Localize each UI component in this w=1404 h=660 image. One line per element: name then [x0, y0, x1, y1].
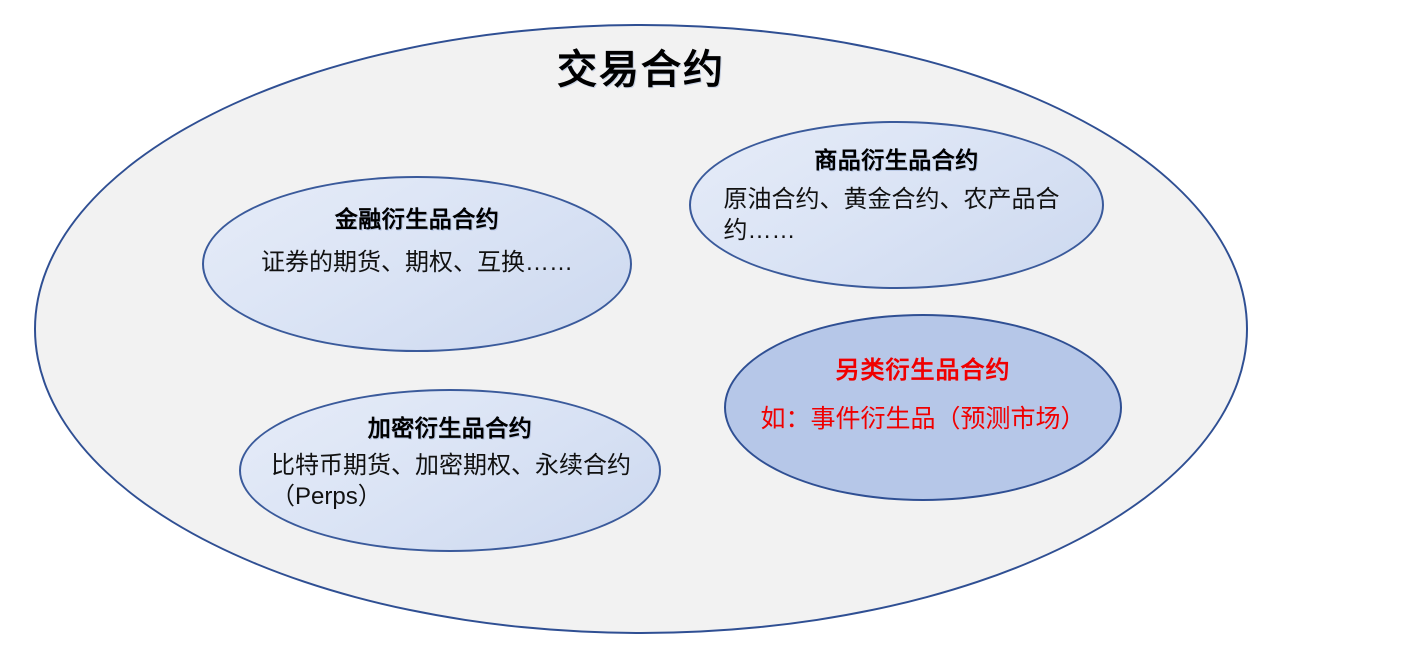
node-alternative-derivatives-title: 另类衍生品合约 — [836, 350, 1011, 385]
node-alternative-derivatives-body: 如：事件衍生品（预测市场） — [728, 403, 1118, 435]
diagram-canvas: 交易合约 金融衍生品合约 证券的期货、期权、互换…… 商品衍生品合约 原油合约、… — [0, 0, 1404, 660]
node-commodity-derivatives[interactable]: 商品衍生品合约 原油合约、黄金合约、农产品合约…… — [689, 121, 1104, 289]
node-crypto-derivatives[interactable]: 加密衍生品合约 比特币期货、加密期权、永续合约（Perps） — [239, 389, 661, 552]
node-financial-derivatives[interactable]: 金融衍生品合约 证券的期货、期权、互换…… — [202, 176, 632, 352]
node-crypto-derivatives-title: 加密衍生品合约 — [368, 409, 533, 443]
node-commodity-derivatives-title: 商品衍生品合约 — [814, 141, 979, 175]
diagram-title: 交易合约 — [36, 48, 1246, 92]
node-crypto-derivatives-body: 比特币期货、加密期权、永续合约（Perps） — [257, 451, 643, 512]
node-commodity-derivatives-body: 原油合约、黄金合约、农产品合约…… — [710, 185, 1084, 246]
node-financial-derivatives-body: 证券的期货、期权、互换…… — [217, 248, 617, 279]
outer-category-ellipse: 交易合约 金融衍生品合约 证券的期货、期权、互换…… 商品衍生品合约 原油合约、… — [34, 24, 1248, 634]
node-financial-derivatives-title: 金融衍生品合约 — [335, 200, 500, 234]
node-alternative-derivatives[interactable]: 另类衍生品合约 如：事件衍生品（预测市场） — [724, 314, 1122, 501]
